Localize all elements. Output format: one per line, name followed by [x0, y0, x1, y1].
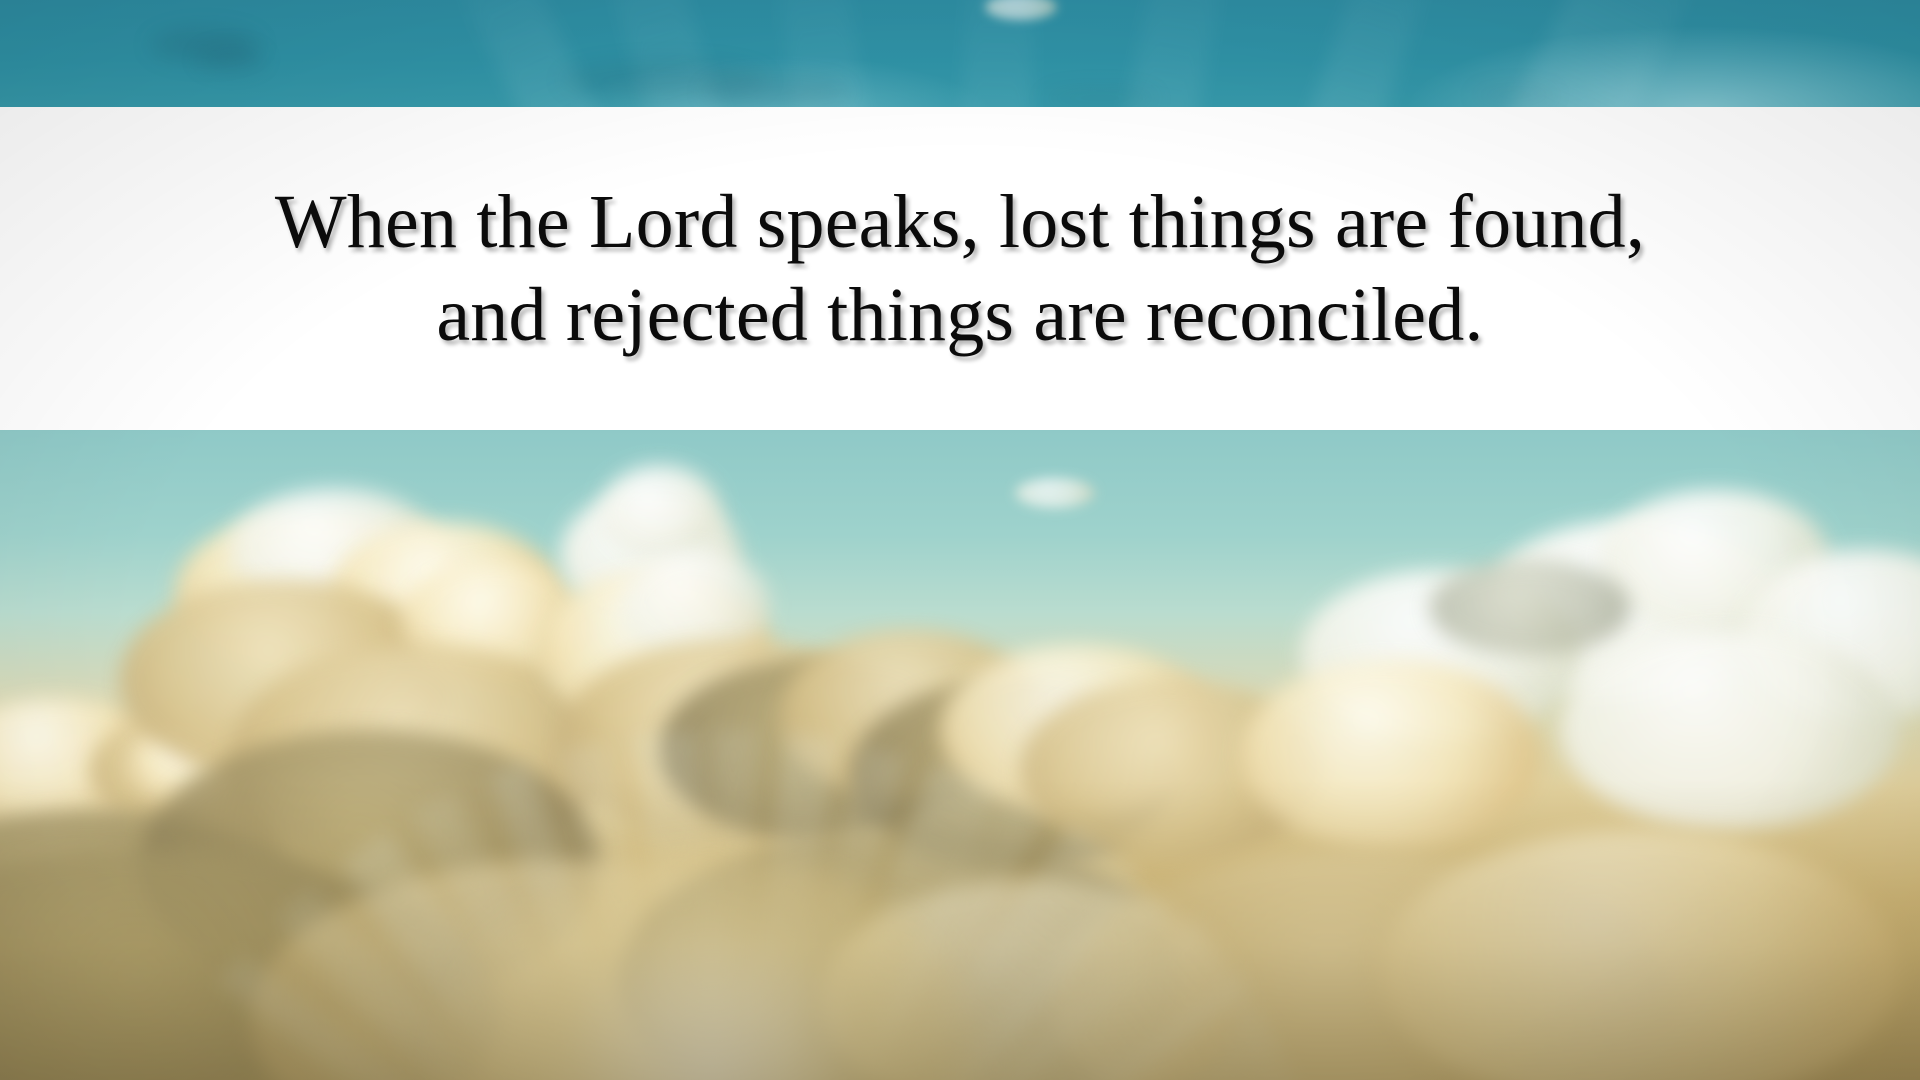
cloud-wisp [1470, 84, 1560, 106]
cloud-wisp [196, 46, 266, 72]
cloud-wisp [1040, 86, 1160, 107]
sky-photo-bottom [0, 430, 1920, 1080]
quote-line-1: When the Lord speaks, lost things are fo… [0, 176, 1920, 269]
cloud-wisp [700, 76, 850, 107]
sky-strip-top [0, 0, 1920, 107]
quote-line-2: and rejected things are reconciled. [0, 269, 1920, 362]
cloud-sunlit-puff [600, 465, 720, 560]
cloud-grey-streak [1430, 560, 1630, 655]
cloud-right-body [1560, 630, 1900, 830]
quote-slide: When the Lord speaks, lost things are fo… [0, 0, 1920, 1080]
sun-ray [1302, 0, 1446, 107]
quote-band: When the Lord speaks, lost things are fo… [0, 107, 1920, 430]
cloud-highlight [1240, 660, 1540, 850]
small-cloud [1015, 478, 1095, 508]
